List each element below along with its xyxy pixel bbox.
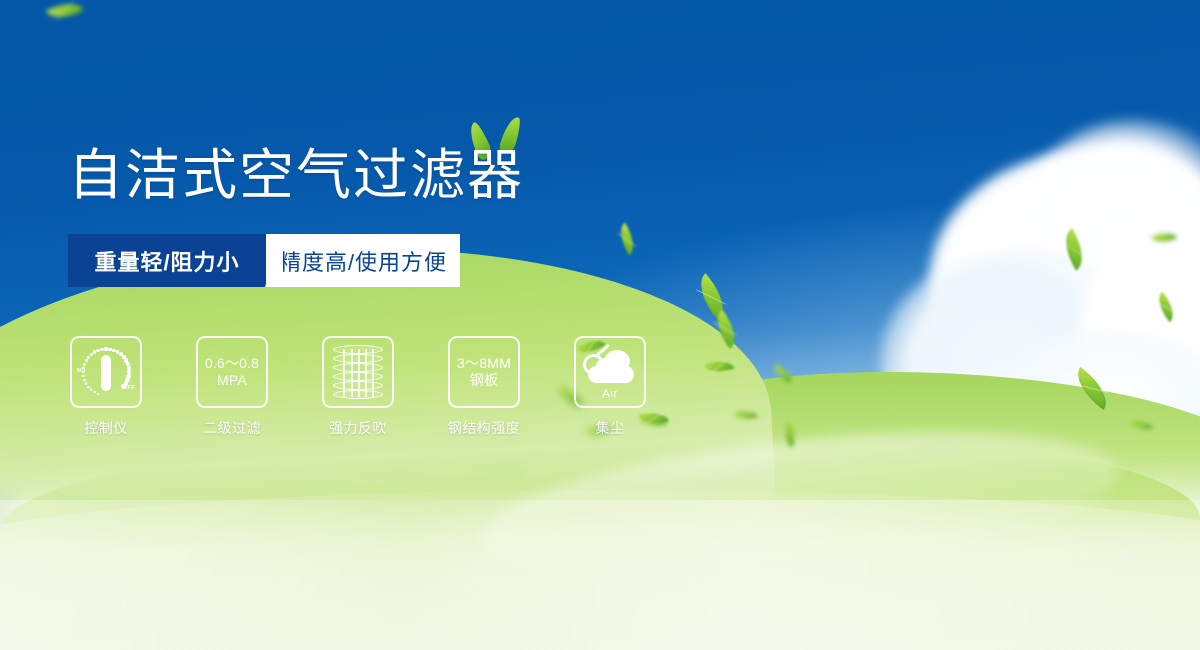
steel-thickness: 3～8MM <box>457 355 511 372</box>
feature-item-steel[interactable]: 3～8MM 钢板 钢结构强度 <box>446 336 522 438</box>
page-title: 自洁式空气过滤器 <box>68 140 524 210</box>
dial-tick <box>90 388 92 390</box>
dial-tick <box>83 363 86 366</box>
feature-label: 二级过滤 <box>203 418 261 438</box>
feature-icon-box: NO OFF <box>70 336 142 408</box>
subtitle-bar: 重量轻/阻力小 精度高/使用方便 <box>68 234 460 287</box>
steel-material: 钢板 <box>470 372 498 389</box>
dial-tick <box>85 382 88 385</box>
subtitle-right-badge: 精度高/使用方便 <box>266 234 460 287</box>
dial-tick <box>96 349 99 352</box>
feature-label: 集尘 <box>596 418 625 438</box>
dial-tick <box>87 386 89 388</box>
subtitle-left-badge: 重量轻/阻力小 <box>68 234 266 287</box>
feature-icon-box: 0.6～0.8 MPA <box>196 336 268 408</box>
feature-icon-box: 3～8MM 钢板 <box>448 336 520 408</box>
feature-list: NO OFF 控制仪 0.6～0.8 MPA 二级过滤 <box>68 336 648 438</box>
feature-item-control-dial[interactable]: NO OFF 控制仪 <box>68 336 144 438</box>
cloud-swirl <box>583 354 604 375</box>
feature-icon-box <box>322 336 394 408</box>
feature-label: 控制仪 <box>84 418 128 438</box>
feature-item-backflow[interactable]: 强力反吹 <box>320 336 396 438</box>
dial-lever <box>101 355 111 391</box>
dial-tick <box>93 391 95 393</box>
air-cloud-icon <box>582 347 638 387</box>
dial-tick <box>83 379 86 382</box>
filter-rings-icon <box>333 345 383 399</box>
dial-tick <box>121 384 126 389</box>
pressure-unit: MPA <box>217 372 247 389</box>
dial-tick <box>85 359 88 362</box>
air-text: Air <box>602 388 617 400</box>
dial-tick <box>87 356 90 359</box>
dial-tick <box>97 393 99 395</box>
promo-banner: 自洁式空气过滤器 重量轻/阻力小 精度高/使用方便 NO OFF 控制仪 0.6… <box>0 0 1200 650</box>
pressure-value: 0.6～0.8 <box>205 355 259 372</box>
control-dial-icon: NO OFF <box>77 344 135 400</box>
dial-tick <box>100 348 103 351</box>
dial-tick <box>82 375 85 378</box>
feature-item-pressure[interactable]: 0.6～0.8 MPA 二级过滤 <box>194 336 270 438</box>
feature-label: 强力反吹 <box>329 418 387 438</box>
feature-label: 钢结构强度 <box>448 418 521 438</box>
